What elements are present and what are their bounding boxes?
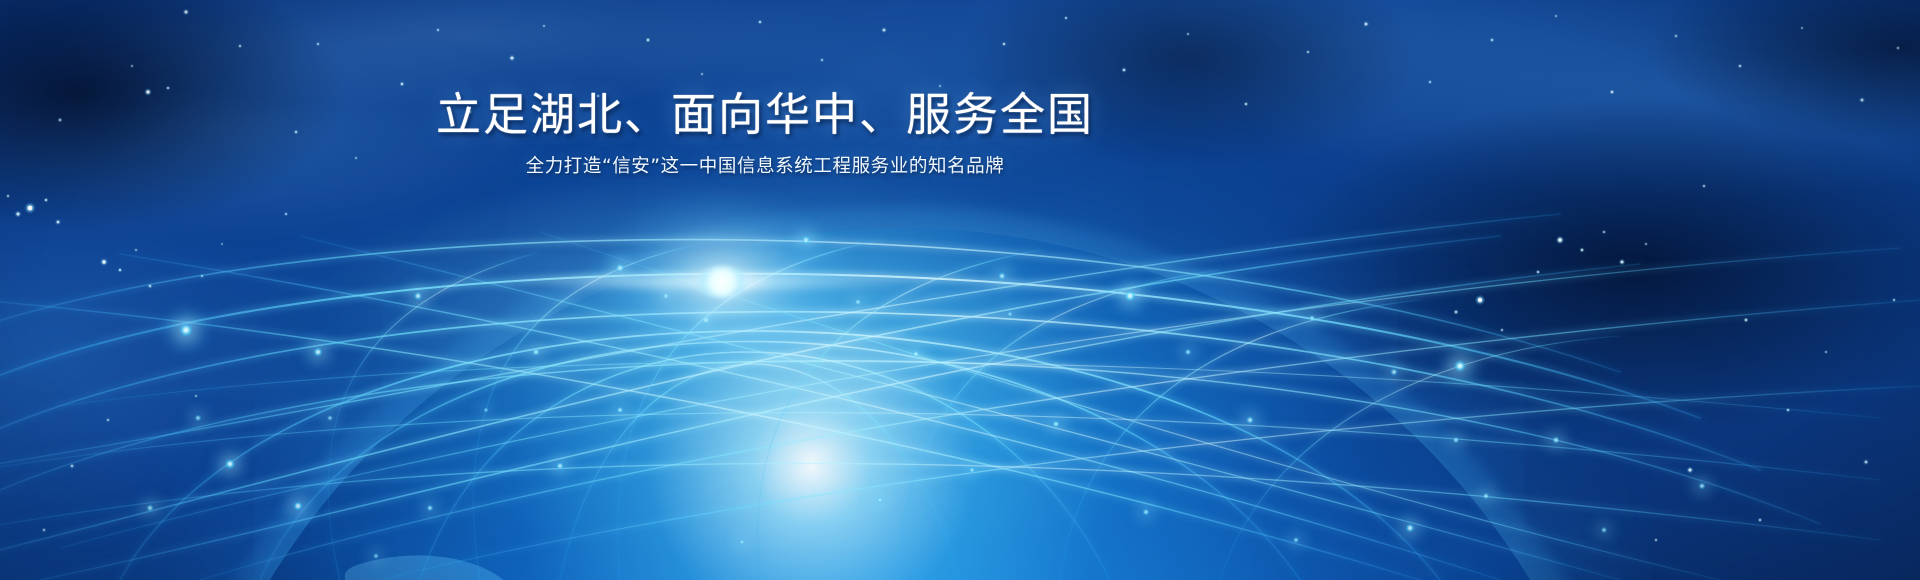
banner-headline: 立足湖北、面向华中、服务全国 [0, 0, 1530, 141]
burst-core [696, 266, 748, 298]
banner-copy: 立足湖北、面向华中、服务全国 全力打造“信安”这一中国信息系统工程服务业的知名品… [0, 0, 1530, 181]
hero-banner: 立足湖北、面向华中、服务全国 全力打造“信安”这一中国信息系统工程服务业的知名品… [0, 0, 1920, 580]
banner-subheadline: 全力打造“信安”这一中国信息系统工程服务业的知名品牌 [0, 153, 1530, 181]
